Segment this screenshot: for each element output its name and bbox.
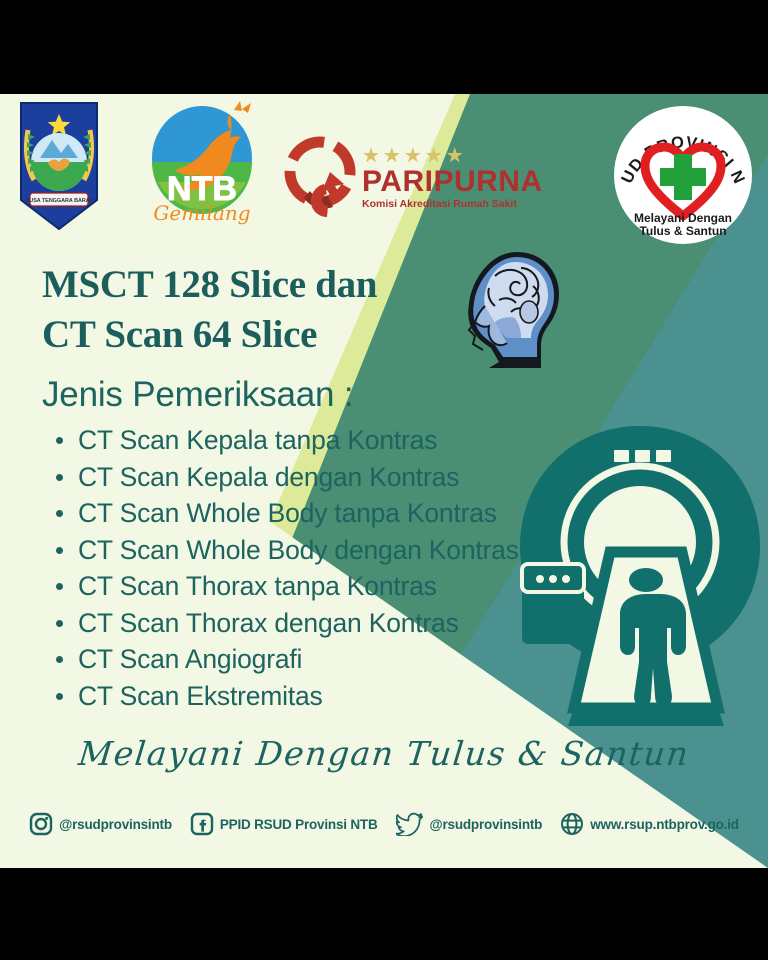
list-item: CT Scan Angiografi (50, 641, 570, 678)
ct-scanner-icon (512, 412, 768, 732)
list-item: CT Scan Kepala dengan Kontras (50, 459, 570, 496)
service-label: CT Scan Whole Body tanpa Kontras (78, 498, 497, 528)
seal-line2: Tulus & Santun (639, 224, 726, 238)
service-label: CT Scan Ekstremitas (78, 681, 323, 711)
globe-icon (560, 812, 584, 836)
bullet-icon (56, 583, 63, 590)
website-url: www.rsup.ntbprov.go.id (590, 817, 739, 832)
service-label: CT Scan Kepala tanpa Kontras (78, 425, 437, 455)
paripurna-name: PARIPURNA (362, 166, 543, 198)
seal-line1: Melayani Dengan (634, 211, 732, 225)
social-website[interactable]: www.rsup.ntbprov.go.id (560, 812, 739, 836)
twitter-icon (396, 812, 424, 836)
svg-text:Gemilang: Gemilang (153, 201, 250, 225)
facebook-icon (190, 812, 214, 836)
poster-root: NUSA TENGGARA BARAT NTB Gemilang (0, 0, 768, 960)
paripurna-subtitle: Komisi Akreditasi Rumah Sakit (362, 198, 543, 210)
rsud-provinsi-ntb-seal-icon: RSUD PROVINSI NTB Melayani Dengan Tulus … (612, 104, 754, 246)
twitter-handle: @rsudprovinsintb (430, 817, 543, 832)
ntb-gemilang-logo-icon: NTB Gemilang (138, 100, 268, 226)
instagram-icon (29, 812, 53, 836)
page-title: MSCT 128 Slice dan CT Scan 64 Slice (42, 260, 472, 360)
flyer-canvas: NUSA TENGGARA BARAT NTB Gemilang (0, 94, 768, 868)
bullet-icon (56, 474, 63, 481)
bullet-icon (56, 656, 63, 663)
bullet-icon (56, 437, 63, 444)
social-facebook[interactable]: PPID RSUD Provinsi NTB (190, 812, 378, 836)
bullet-icon (56, 620, 63, 627)
social-instagram[interactable]: @rsudprovinsintb (29, 812, 172, 836)
kars-q-mark-icon (280, 136, 360, 222)
paripurna-accreditation-logo: ★★★★★ PARIPURNA Komisi Akreditasi Rumah … (280, 142, 526, 222)
headline-line-2: CT Scan 64 Slice (42, 310, 472, 360)
ntb-province-crest-icon: NUSA TENGGARA BARAT (18, 100, 100, 232)
svg-text:NUSA TENGGARA BARAT: NUSA TENGGARA BARAT (25, 198, 93, 204)
list-item: CT Scan Kepala tanpa Kontras (50, 422, 570, 459)
service-label: CT Scan Thorax tanpa Kontras (78, 571, 437, 601)
instagram-handle: @rsudprovinsintb (59, 817, 172, 832)
social-twitter[interactable]: @rsudprovinsintb (396, 812, 543, 836)
head-brain-profile-icon (455, 246, 573, 368)
letterbox-top (0, 0, 768, 94)
headline-line-1: MSCT 128 Slice dan (42, 260, 472, 310)
section-subtitle: Jenis Pemeriksaan : (42, 375, 353, 415)
bullet-icon (56, 547, 63, 554)
list-item: CT Scan Thorax tanpa Kontras (50, 568, 570, 605)
service-label: CT Scan Angiografi (78, 644, 302, 674)
service-label: CT Scan Kepala dengan Kontras (78, 462, 459, 492)
list-item: CT Scan Whole Body dengan Kontras (50, 532, 570, 569)
bullet-icon (56, 693, 63, 700)
accreditation-logo-row: NUSA TENGGARA BARAT NTB Gemilang (18, 100, 538, 230)
social-footer: @rsudprovinsintb PPID RSUD Provinsi NTB … (0, 804, 768, 844)
paripurna-stars: ★★★★★ (362, 146, 543, 166)
tagline: Melayani Dengan Tulus & Santun (0, 734, 768, 773)
list-item: CT Scan Thorax dengan Kontras (50, 605, 570, 642)
service-label: CT Scan Whole Body dengan Kontras (78, 535, 519, 565)
facebook-handle: PPID RSUD Provinsi NTB (220, 817, 378, 832)
service-label: CT Scan Thorax dengan Kontras (78, 608, 459, 638)
list-item: CT Scan Whole Body tanpa Kontras (50, 495, 570, 532)
list-item: CT Scan Ekstremitas (50, 678, 570, 715)
service-list: CT Scan Kepala tanpa Kontras CT Scan Kep… (50, 422, 570, 714)
bullet-icon (56, 510, 63, 517)
letterbox-bottom (0, 868, 768, 960)
